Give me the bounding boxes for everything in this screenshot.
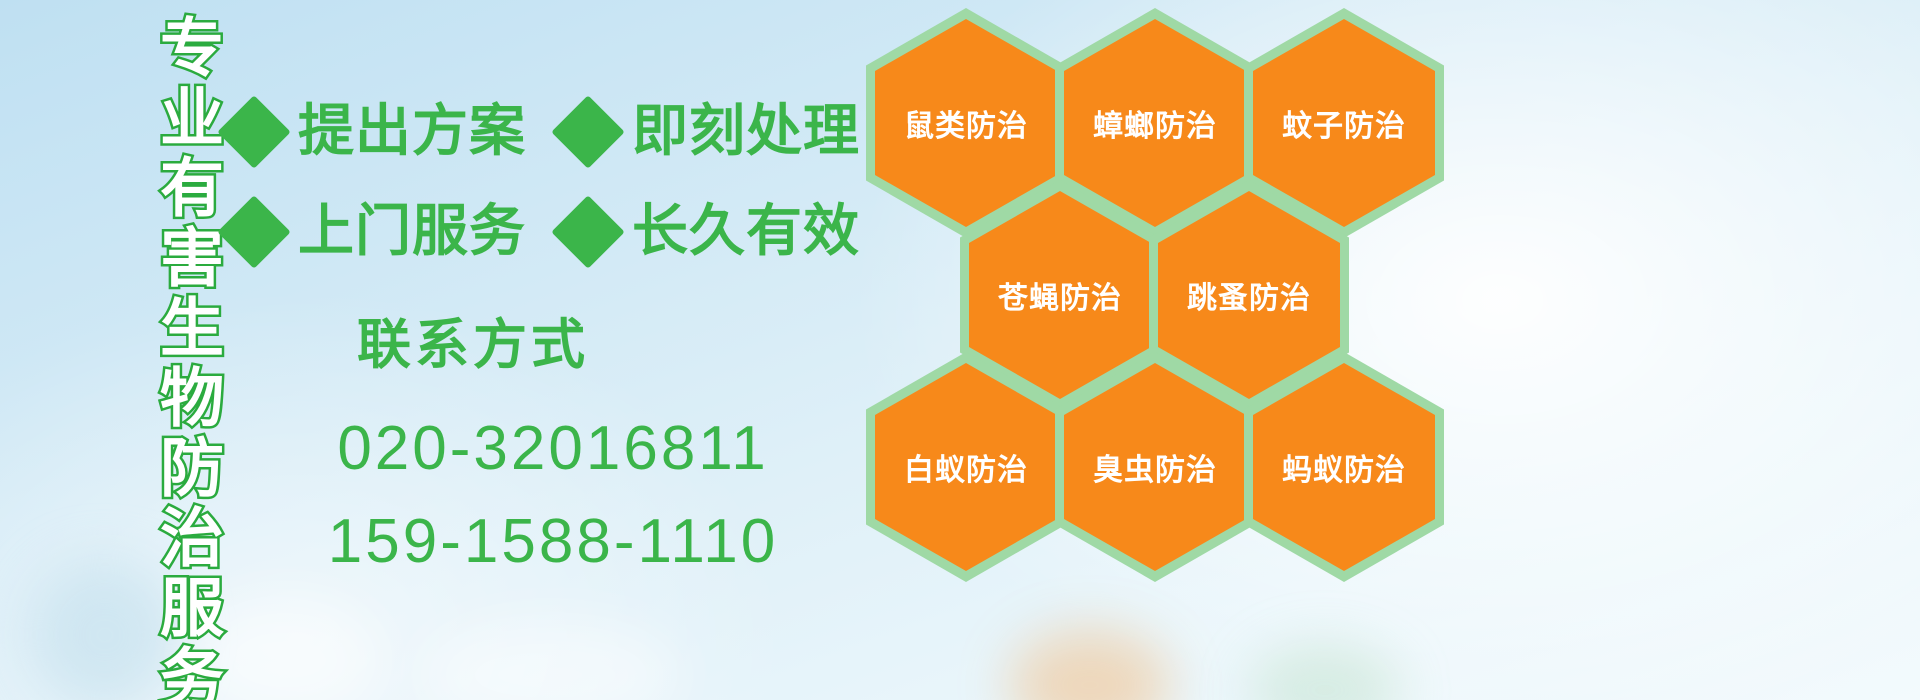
feature-label: 提出方案 [298, 104, 526, 160]
feature-row: 上门服务 长久有效 [228, 182, 868, 282]
contact-title: 联系方式 [68, 300, 878, 379]
diamond-icon [217, 95, 291, 169]
service-honeycomb: 鼠类防治 蟑螂防治 蚊子防治 苍蝇防治 跳蚤防治 白蚁防治 臭虫防治 蚂蚁 [862, 0, 1462, 700]
contact-block: 联系方式 020-32016811 159-1588-1110 [228, 300, 878, 577]
feature-label: 上门服务 [298, 204, 526, 260]
feature-row: 提出方案 即刻处理 [228, 82, 868, 182]
diamond-icon [217, 195, 291, 269]
phone-number-landline[interactable]: 020-32016811 [228, 413, 878, 484]
feature-item-propose-plan: 提出方案 [228, 104, 526, 160]
service-label: 臭虫防治 [1093, 445, 1217, 489]
pest-control-banner: 专业有害生物防治服务 提出方案 即刻处理 上门服务 长久有效 联系方式 0 [0, 0, 1920, 700]
service-label: 苍蝇防治 [998, 273, 1122, 317]
feature-list: 提出方案 即刻处理 上门服务 长久有效 [228, 82, 868, 282]
service-label: 鼠类防治 [904, 101, 1028, 145]
feature-label: 即刻处理 [632, 104, 860, 160]
diamond-icon [551, 95, 625, 169]
service-label: 蚊子防治 [1282, 101, 1406, 145]
service-label: 白蚁防治 [904, 445, 1028, 489]
phone-number-mobile[interactable]: 159-1588-1110 [228, 506, 878, 577]
background-blob [420, 620, 680, 700]
service-label: 蚂蚁防治 [1282, 445, 1406, 489]
diamond-icon [551, 195, 625, 269]
feature-item-immediate-handling: 即刻处理 [562, 104, 860, 160]
service-label: 跳蚤防治 [1187, 273, 1311, 317]
feature-item-onsite-service: 上门服务 [228, 204, 526, 260]
service-label: 蟑螂防治 [1093, 101, 1217, 145]
feature-item-long-lasting: 长久有效 [562, 204, 860, 260]
feature-label: 长久有效 [632, 204, 860, 260]
